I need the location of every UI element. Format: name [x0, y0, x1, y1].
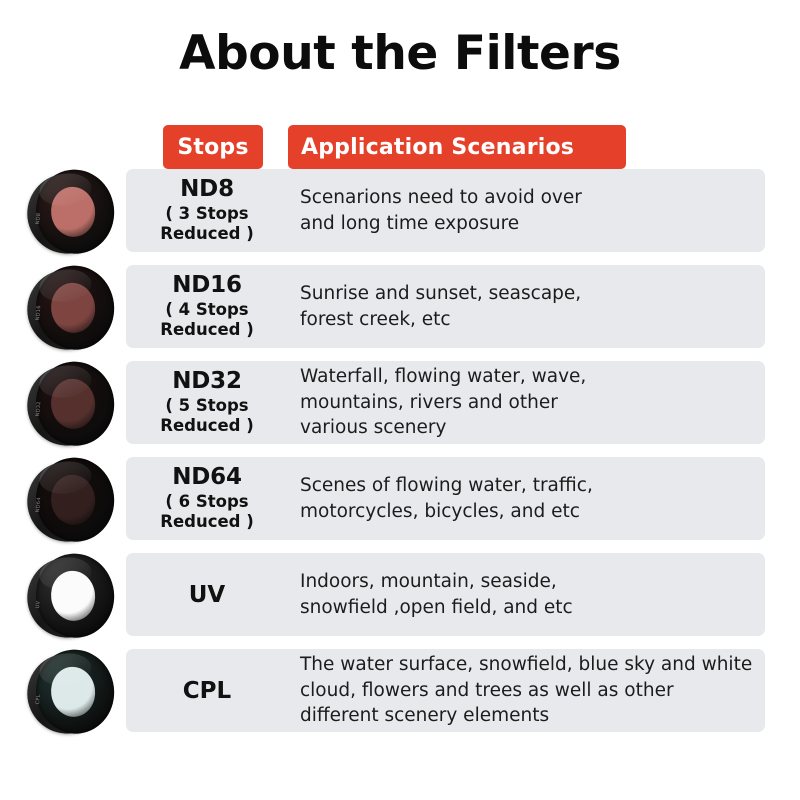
scenario-line: Scenes of flowing water, traffic, — [300, 473, 757, 498]
lens-ring — [31, 645, 119, 738]
filter-name: ND32 — [130, 369, 284, 395]
lens-body: CPL — [27, 643, 117, 738]
scenario-line: forest creek, etc — [300, 307, 757, 332]
stops-line-1: ( 3 Stops — [165, 204, 248, 223]
scenario-line: Sunrise and sunset, seascape, — [300, 281, 757, 306]
lens-ring — [31, 357, 119, 450]
filter-stops-reduction: ( 5 StopsReduced ) — [130, 396, 284, 436]
lens-body: UV — [27, 547, 117, 642]
cell-application-scenario: The water surface, snowfield, blue sky a… — [288, 652, 765, 728]
table-row: ND16ND16( 4 StopsReduced )Sunrise and su… — [126, 265, 765, 348]
stops-line-2: Reduced ) — [160, 512, 254, 531]
lens-glass — [48, 280, 98, 335]
scenario-line: The water surface, snowfield, blue sky a… — [300, 652, 757, 677]
lens-highlight — [38, 458, 94, 496]
nd64-filter-lens: ND64 — [26, 453, 118, 545]
lens-body: ND16 — [27, 259, 117, 354]
lens-glass — [48, 376, 98, 431]
lens-ring — [31, 165, 119, 258]
lens-engraving: UV — [35, 594, 48, 609]
cell-application-scenario: Scenarions need to avoid overand long ti… — [288, 185, 765, 236]
lens-barrel — [23, 649, 112, 738]
lens-glass — [48, 664, 98, 719]
stops-line-2: Reduced ) — [160, 416, 254, 435]
filter-stops-reduction: ( 4 StopsReduced ) — [130, 300, 284, 340]
lens-highlight — [38, 650, 94, 688]
lens-glass — [48, 472, 98, 527]
cell-stops: ND32( 5 StopsReduced ) — [126, 369, 288, 436]
filter-name: ND64 — [130, 465, 284, 491]
table-row: ND8ND8( 3 StopsReduced )Scenarions need … — [126, 169, 765, 252]
cell-stops: ND8( 3 StopsReduced ) — [126, 177, 288, 244]
stops-line-2: Reduced ) — [160, 320, 254, 339]
filter-stops-reduction: ( 3 StopsReduced ) — [130, 204, 284, 244]
cell-application-scenario: Waterfall, flowing water, wave,mountains… — [288, 364, 765, 440]
scenario-line: different scenery elements — [300, 703, 757, 728]
nd16-filter-lens: ND16 — [26, 261, 118, 353]
lens-ring — [31, 453, 119, 546]
scenario-line: Indoors, mountain, seaside, — [300, 569, 757, 594]
column-header-stops: Stops — [163, 125, 263, 169]
scenario-line: Waterfall, flowing water, wave, — [300, 364, 757, 389]
lens-barrel — [23, 553, 112, 642]
table-row: UVUVIndoors, mountain, seaside,snowfield… — [126, 553, 765, 636]
cell-application-scenario: Sunrise and sunset, seascape,forest cree… — [288, 281, 765, 332]
cell-application-scenario: Indoors, mountain, seaside,snowfield ,op… — [288, 569, 765, 620]
lens-highlight — [38, 170, 94, 208]
lens-barrel — [23, 265, 112, 354]
lens-body: ND32 — [27, 355, 117, 450]
lens-engraving: ND64 — [35, 498, 48, 513]
lens-barrel — [23, 361, 112, 450]
lens-highlight — [38, 362, 94, 400]
table-body: ND8ND8( 3 StopsReduced )Scenarions need … — [0, 169, 800, 732]
lens-ring — [31, 261, 119, 354]
lens-glass — [48, 568, 98, 623]
scenario-line: snowfield ,open field, and etc — [300, 595, 757, 620]
filter-name: CPL — [130, 678, 284, 704]
table-header-row: Stops Application Scenarios — [126, 125, 800, 169]
lens-engraving: ND8 — [35, 210, 48, 225]
column-header-application-scenarios: Application Scenarios — [288, 125, 626, 169]
cell-stops: UV — [126, 582, 288, 608]
stops-line-1: ( 4 Stops — [165, 300, 248, 319]
filters-table: Stops Application Scenarios ND8ND8( 3 St… — [0, 125, 800, 745]
cell-application-scenario: Scenes of flowing water, traffic,motorcy… — [288, 473, 765, 524]
uv-filter-lens: UV — [26, 549, 118, 641]
lens-engraving: CPL — [35, 690, 48, 705]
lens-ring — [31, 549, 119, 642]
stops-line-1: ( 5 Stops — [165, 396, 248, 415]
lens-engraving: ND32 — [35, 402, 48, 417]
lens-highlight — [38, 266, 94, 304]
scenario-line: cloud, flowers and trees as well as othe… — [300, 678, 757, 703]
lens-glass — [48, 184, 98, 239]
scenario-line: various scenery — [300, 415, 757, 440]
cell-stops: CPL — [126, 678, 288, 704]
cpl-filter-lens: CPL — [26, 645, 118, 737]
table-row: ND32ND32( 5 StopsReduced )Waterfall, flo… — [126, 361, 765, 444]
stops-line-2: Reduced ) — [160, 224, 254, 243]
scenario-line: motorcycles, bicycles, and etc — [300, 499, 757, 524]
scenario-line: Scenarions need to avoid over — [300, 185, 757, 210]
filter-name: UV — [130, 582, 284, 608]
filter-name: ND8 — [130, 177, 284, 203]
nd8-filter-lens: ND8 — [26, 165, 118, 257]
cell-stops: ND64( 6 StopsReduced ) — [126, 465, 288, 532]
lens-barrel — [23, 457, 112, 546]
lens-body: ND64 — [27, 451, 117, 546]
lens-body: ND8 — [27, 163, 117, 258]
lens-barrel — [23, 169, 112, 258]
lens-highlight — [38, 554, 94, 592]
filter-name: ND16 — [130, 273, 284, 299]
cell-stops: ND16( 4 StopsReduced ) — [126, 273, 288, 340]
stops-line-1: ( 6 Stops — [165, 492, 248, 511]
table-row: ND64ND64( 6 StopsReduced )Scenes of flow… — [126, 457, 765, 540]
lens-engraving: ND16 — [35, 306, 48, 321]
scenario-line: and long time exposure — [300, 211, 757, 236]
filter-stops-reduction: ( 6 StopsReduced ) — [130, 492, 284, 532]
table-row: CPLCPLThe water surface, snowfield, blue… — [126, 649, 765, 732]
page-title: About the Filters — [0, 26, 800, 81]
scenario-line: mountains, rivers and other — [300, 390, 757, 415]
nd32-filter-lens: ND32 — [26, 357, 118, 449]
